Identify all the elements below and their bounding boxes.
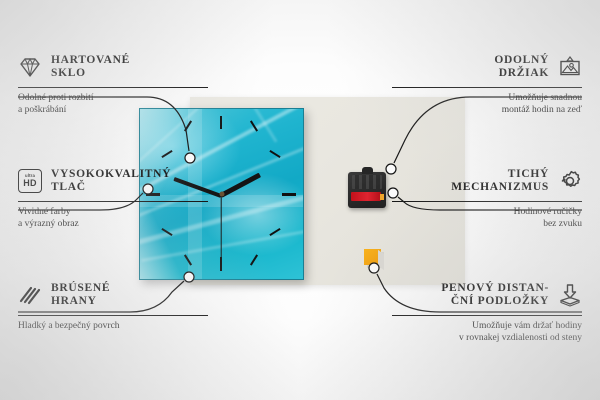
clock-tick-10 bbox=[161, 150, 172, 158]
ultra-hd-badge-icon: ultra HD bbox=[18, 169, 42, 193]
feature-desc-line1: Umožňuje snadnou bbox=[392, 92, 582, 104]
feature-desc-line1: Hodinové ručičky bbox=[392, 206, 582, 218]
feature-foam-spacers: PENOVÝ DISTAN- ČNÍ PODLOŽKY Umožňuje vám… bbox=[392, 278, 582, 344]
feature-polished-edges: BRÚSENÉ HRANY Hladký a bezpečný povrch bbox=[18, 278, 208, 332]
polished-edges-icon bbox=[18, 283, 42, 307]
infographic-canvas: HARTOVANÉ SKLO Odolné proti rozbití a po… bbox=[0, 0, 600, 400]
clock-second-hand bbox=[220, 195, 221, 257]
foam-spacer-icon bbox=[558, 283, 582, 307]
clock-tick-6 bbox=[220, 257, 222, 271]
feature-divider bbox=[392, 315, 582, 316]
feature-divider bbox=[18, 201, 208, 202]
feature-title: BRÚSENÉ HRANY bbox=[51, 282, 110, 309]
mechanism-housing-detail bbox=[352, 175, 382, 189]
feature-desc-line2: v rovnakej vzdialenosti od steny bbox=[392, 332, 582, 344]
feature-durable-hanger: ODOLNÝ DRŽIAK Umožňuje snadnou montáž ho… bbox=[392, 50, 582, 116]
clock-mechanism bbox=[348, 172, 386, 208]
feature-hardened-glass: HARTOVANÉ SKLO Odolné proti rozbití a po… bbox=[18, 50, 208, 116]
feature-header: ultra HD VYSOKOKVALITNÝ TLAČ bbox=[18, 164, 208, 198]
clock-center-pin bbox=[219, 192, 224, 197]
feature-desc-line2: a výrazný obraz bbox=[18, 218, 208, 230]
feature-desc-line1: Vividné farby bbox=[18, 206, 208, 218]
feather-streak bbox=[214, 108, 277, 143]
feature-divider bbox=[18, 315, 208, 316]
mechanism-shaft bbox=[362, 167, 373, 174]
feature-title: ODOLNÝ DRŽIAK bbox=[494, 54, 549, 81]
clock-tick-12 bbox=[220, 116, 222, 129]
gear-icon bbox=[558, 169, 582, 193]
battery bbox=[351, 192, 381, 201]
feature-header: PENOVÝ DISTAN- ČNÍ PODLOŽKY bbox=[392, 278, 582, 312]
clock-tick-3 bbox=[282, 193, 296, 196]
feature-high-quality-print: ultra HD VYSOKOKVALITNÝ TLAČ Vividné far… bbox=[18, 164, 208, 230]
feature-desc-line2: bez zvuku bbox=[392, 218, 582, 230]
clock-hour-hand bbox=[220, 173, 261, 198]
feature-divider bbox=[392, 87, 582, 88]
feature-title: HARTOVANÉ SKLO bbox=[51, 54, 130, 81]
feature-desc-line2: montáž hodin na zeď bbox=[392, 104, 582, 116]
feature-desc-line1: Hladký a bezpečný povrch bbox=[18, 320, 208, 332]
feature-desc-line2: a poškrábání bbox=[18, 104, 208, 116]
feature-desc-line1: Umožňuje vám držať hodiny bbox=[392, 320, 582, 332]
battery-terminal bbox=[380, 194, 384, 200]
feature-header: ODOLNÝ DRŽIAK bbox=[392, 50, 582, 84]
feature-title: VYSOKOKVALITNÝ TLAČ bbox=[51, 168, 171, 195]
feature-divider bbox=[18, 87, 208, 88]
picture-hanger-icon bbox=[558, 55, 582, 79]
feature-header: TICHÝ MECHANIZMUS bbox=[392, 164, 582, 198]
feature-silent-mechanism: TICHÝ MECHANIZMUS Hodinové ručičky bez z… bbox=[392, 164, 582, 230]
hd-label: HD bbox=[23, 179, 37, 188]
clock-tick-5 bbox=[250, 254, 258, 265]
feature-header: HARTOVANÉ SKLO bbox=[18, 50, 208, 84]
feature-title: TICHÝ MECHANIZMUS bbox=[451, 168, 549, 195]
feature-header: BRÚSENÉ HRANY bbox=[18, 278, 208, 312]
clock-tick-2 bbox=[269, 150, 280, 158]
feature-title: PENOVÝ DISTAN- ČNÍ PODLOŽKY bbox=[441, 282, 549, 309]
feature-desc-line1: Odolné proti rozbití bbox=[18, 92, 208, 104]
feature-divider bbox=[392, 201, 582, 202]
foam-spacer-pad bbox=[364, 249, 381, 265]
diamond-icon bbox=[18, 55, 42, 79]
